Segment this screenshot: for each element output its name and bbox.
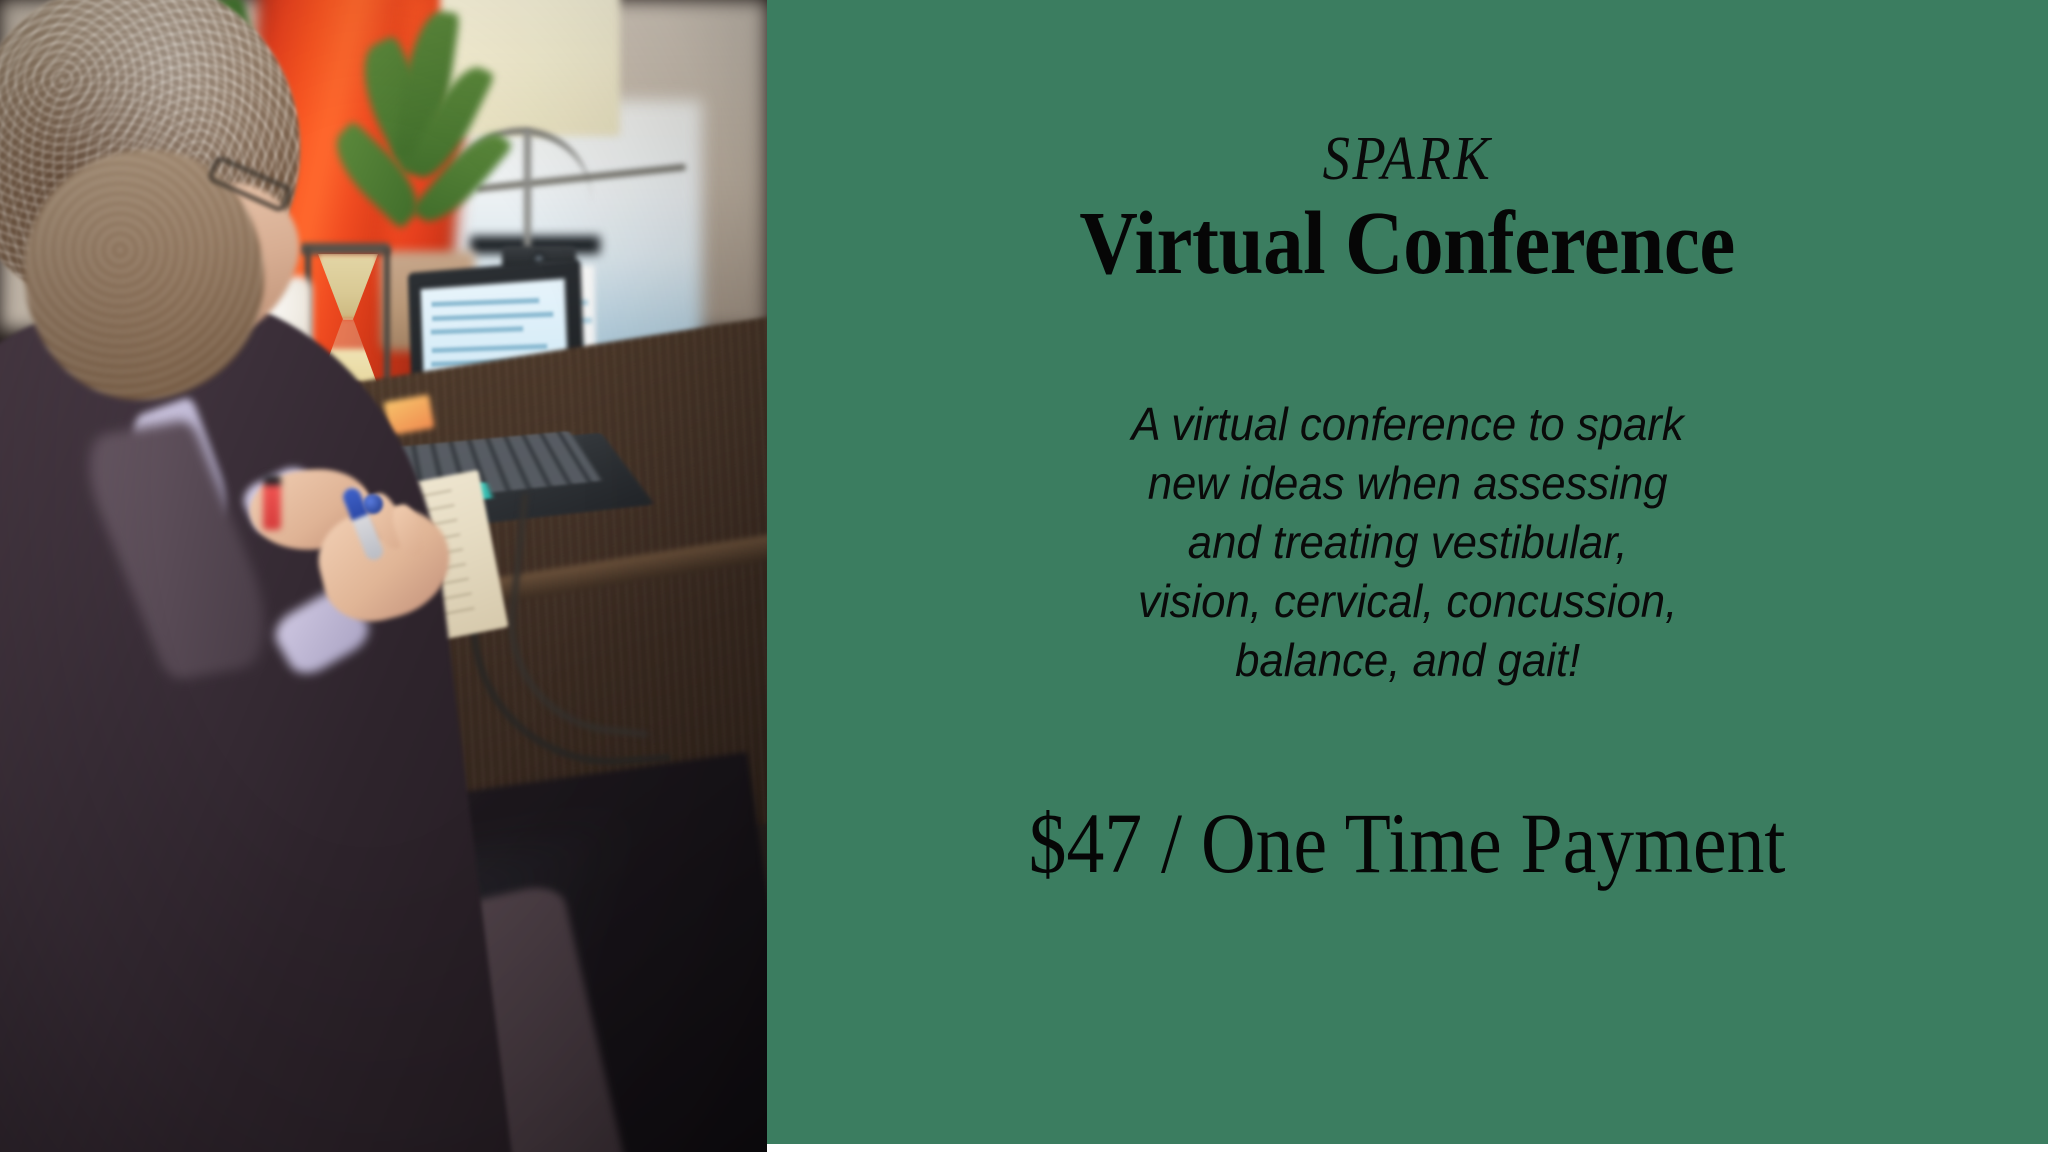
description-line: A virtual conference to spark xyxy=(1131,395,1683,454)
hourglass-frame-top xyxy=(300,243,390,255)
hero-photo xyxy=(0,0,767,1152)
page-title: Virtual Conference xyxy=(1080,196,1735,291)
description-line: new ideas when assessing xyxy=(1131,454,1683,513)
content-panel: SPARK Virtual Conference A virtual confe… xyxy=(767,0,2048,1152)
red-marker xyxy=(263,475,281,530)
bottom-strip xyxy=(767,1144,2048,1152)
hourglass-post xyxy=(384,248,390,390)
photo-canvas xyxy=(0,0,767,1152)
description-line: balance, and gait! xyxy=(1131,631,1683,690)
description: A virtual conference to spark new ideas … xyxy=(1131,395,1683,689)
description-line: and treating vestibular, xyxy=(1131,513,1683,572)
promo-card: SPARK Virtual Conference A virtual confe… xyxy=(0,0,2048,1152)
description-line: vision, cervical, concussion, xyxy=(1131,572,1683,631)
price-terms: One Time Payment xyxy=(1201,795,1785,891)
price-amount: $47 xyxy=(1029,795,1143,891)
lamp-stem xyxy=(524,130,531,260)
price-line: $47 / One Time Payment xyxy=(1029,800,1786,886)
pen-cap xyxy=(363,494,383,514)
eyebrow-title: SPARK xyxy=(1323,128,1493,190)
price-separator: / xyxy=(1162,795,1183,891)
